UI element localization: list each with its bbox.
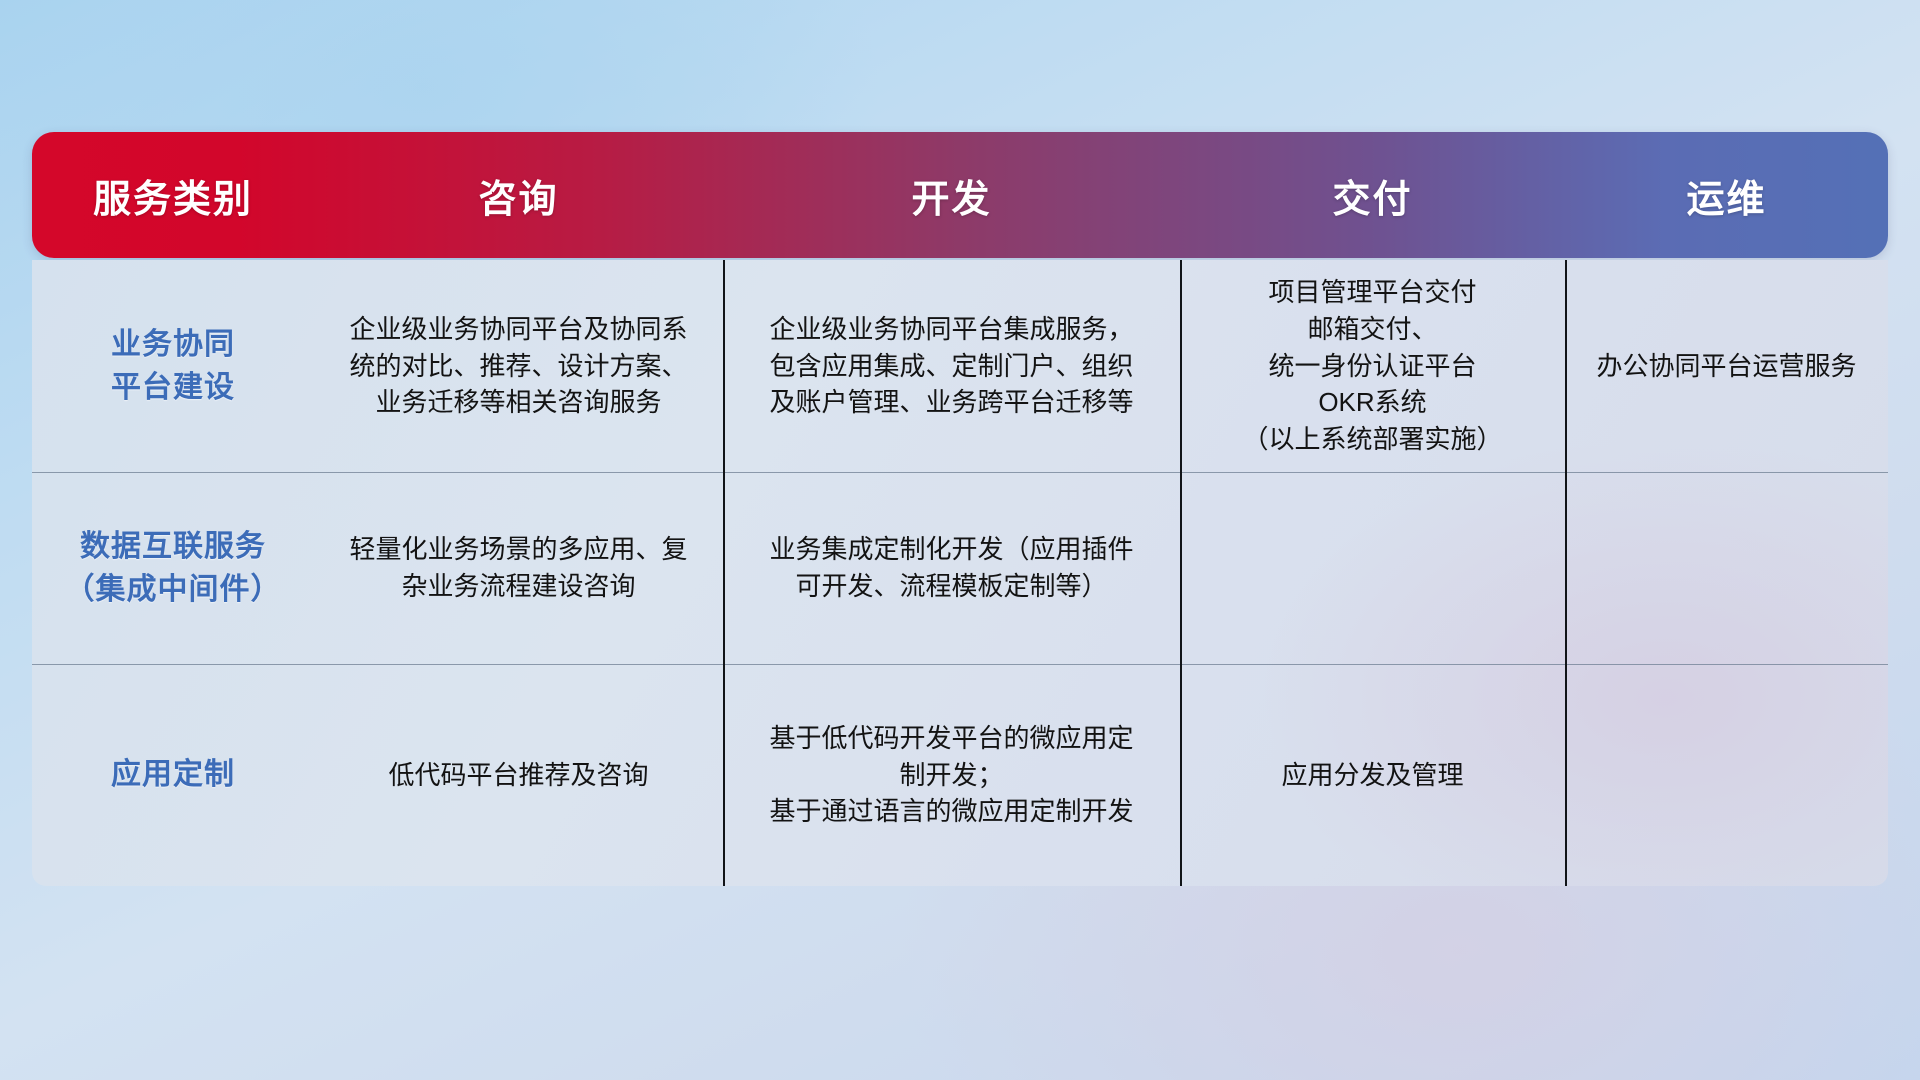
column-header-development-label: 开发 — [911, 168, 991, 223]
service-matrix-table: 服务类别 咨询 开发 交付 运维 业务协同 平台建设 企业级业务协同平台及协同系… — [32, 132, 1888, 886]
matrix-body: 业务协同 平台建设 企业级业务协同平台及协同系 统的对比、推荐、设计方案、 业务… — [32, 260, 1888, 886]
cell-operations — [1565, 472, 1888, 664]
column-divider-development-delivery — [1180, 260, 1182, 886]
slide-canvas: 服务类别 咨询 开发 交付 运维 业务协同 平台建设 企业级业务协同平台及协同系… — [0, 0, 1920, 1080]
column-header-category-label: 服务类别 — [93, 168, 253, 223]
table-row: 业务协同 平台建设 企业级业务协同平台及协同系 统的对比、推荐、设计方案、 业务… — [32, 260, 1888, 472]
cell-development: 业务集成定制化开发（应用插件 可开发、流程模板定制等） — [723, 472, 1180, 664]
cell-consulting: 轻量化业务场景的多应用、复 杂业务流程建设咨询 — [314, 472, 723, 664]
cell-delivery: 项目管理平台交付 邮箱交付、 统一身份认证平台 OKR系统 （以上系统部署实施） — [1180, 260, 1565, 472]
table-row: 应用定制 低代码平台推荐及咨询 基于低代码开发平台的微应用定 制开发； 基于通过… — [32, 664, 1888, 886]
cell-consulting: 企业级业务协同平台及协同系 统的对比、推荐、设计方案、 业务迁移等相关咨询服务 — [314, 260, 723, 472]
matrix-header-row: 服务类别 咨询 开发 交付 运维 — [32, 132, 1888, 258]
cell-operations: 办公协同平台运营服务 — [1565, 260, 1888, 472]
column-header-development: 开发 — [723, 132, 1180, 258]
cell-delivery — [1180, 472, 1565, 664]
column-header-category: 服务类别 — [32, 132, 314, 258]
cell-operations — [1565, 664, 1888, 886]
cell-consulting: 低代码平台推荐及咨询 — [314, 664, 723, 886]
row-category-label: 业务协同 平台建设 — [32, 260, 314, 472]
table-row: 数据互联服务 （集成中间件） 轻量化业务场景的多应用、复 杂业务流程建设咨询 业… — [32, 472, 1888, 664]
column-header-consulting: 咨询 — [314, 132, 723, 258]
row-category-label: 应用定制 — [32, 664, 314, 886]
cell-delivery: 应用分发及管理 — [1180, 664, 1565, 886]
column-header-delivery-label: 交付 — [1332, 168, 1412, 223]
cell-development: 企业级业务协同平台集成服务， 包含应用集成、定制门户、组织 及账户管理、业务跨平… — [723, 260, 1180, 472]
column-divider-consulting-development — [723, 260, 725, 886]
row-category-label: 数据互联服务 （集成中间件） — [32, 472, 314, 664]
column-header-delivery: 交付 — [1180, 132, 1565, 258]
column-header-operations-label: 运维 — [1686, 168, 1766, 223]
column-header-operations: 运维 — [1565, 132, 1888, 258]
cell-development: 基于低代码开发平台的微应用定 制开发； 基于通过语言的微应用定制开发 — [723, 664, 1180, 886]
column-divider-delivery-operations — [1565, 260, 1567, 886]
column-header-consulting-label: 咨询 — [478, 168, 558, 223]
